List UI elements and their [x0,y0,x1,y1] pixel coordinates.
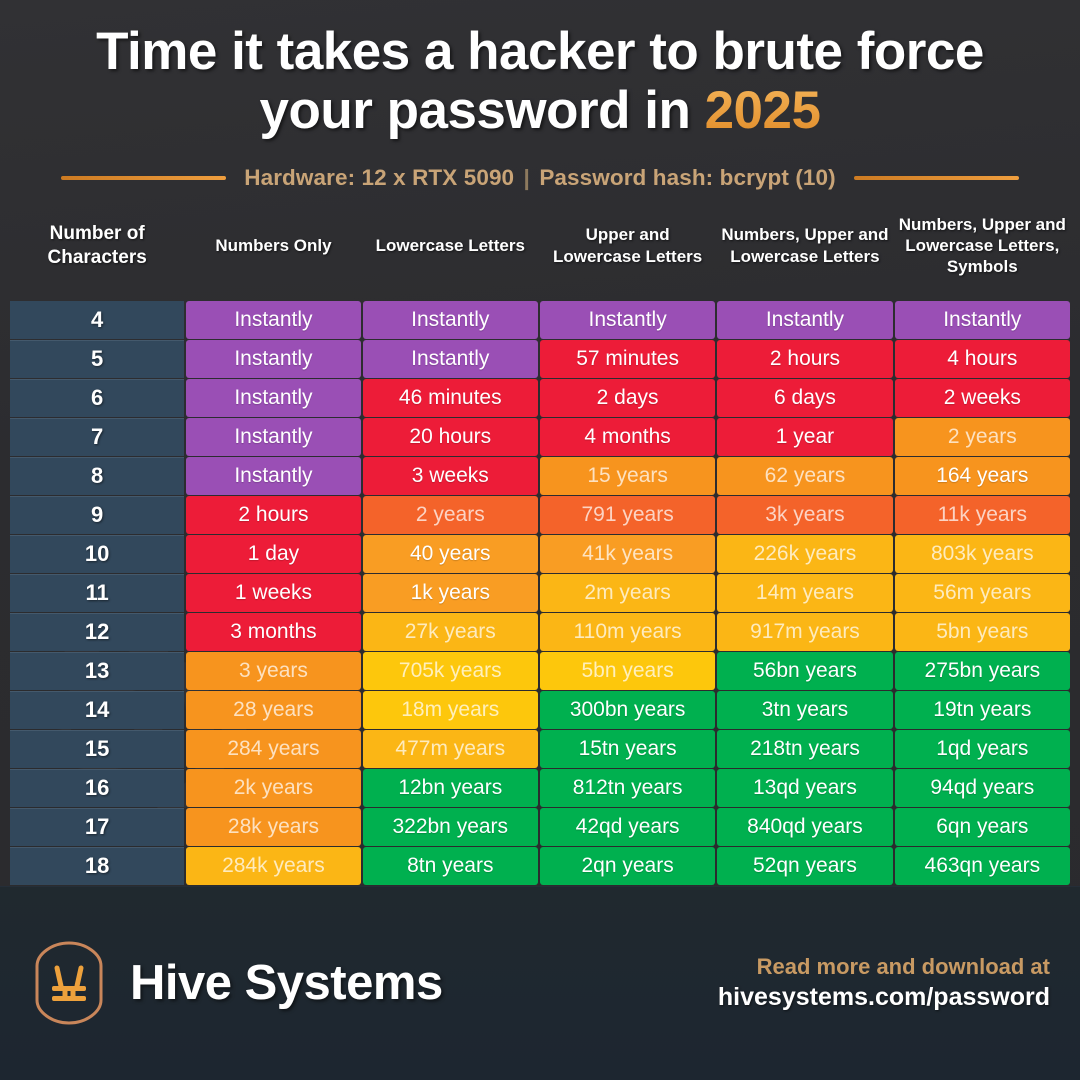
crack-time-cell: 11k years [895,496,1070,534]
column-header-numbers-upper-and-lowercase-letters: Numbers, Upper and Lowercase Letters [717,192,892,300]
table-row: 8Instantly3 weeks15 years62 years164 yea… [10,457,1070,495]
row-header-character-count: 14 [10,691,184,729]
table-row: 18284k years8tn years2qn years52qn years… [10,847,1070,885]
crack-time-cell: 5bn years [540,652,715,690]
rule-right-divider [854,176,1019,180]
crack-time-cell: 28k years [186,808,360,846]
crack-time-cell: 4 months [540,418,715,456]
crack-time-cell: Instantly [186,418,360,456]
crack-time-cell: 164 years [895,457,1070,495]
password-crack-time-table: Number of Characters Numbers Only Lowerc… [8,191,1072,886]
crack-time-cell: 840qd years [717,808,892,846]
crack-time-cell: 477m years [363,730,538,768]
crack-time-cell: 94qd years [895,769,1070,807]
subtitle-row: Hardware: 12 x RTX 5090 | Password hash:… [22,165,1058,191]
row-header-character-count: 11 [10,574,184,612]
brand-name: Hive Systems [130,955,443,1011]
crack-time-cell: Instantly [186,379,360,417]
row-header-character-count: 18 [10,847,184,885]
crack-time-cell: 8tn years [363,847,538,885]
table-body: 4InstantlyInstantlyInstantlyInstantlyIns… [10,301,1070,885]
crack-time-cell: 322bn years [363,808,538,846]
crack-time-cell: 6 days [717,379,892,417]
crack-time-cell: 2 years [895,418,1070,456]
crack-time-cell: Instantly [540,301,715,339]
crack-time-cell: 226k years [717,535,892,573]
table-row: 92 hours2 years791 years3k years11k year… [10,496,1070,534]
crack-time-cell: 1qd years [895,730,1070,768]
crack-time-cell: 57 minutes [540,340,715,378]
table-row: 7Instantly20 hours4 months1 year2 years [10,418,1070,456]
subtitle-hash: Password hash: bcrypt (10) [539,165,835,190]
row-header-character-count: 15 [10,730,184,768]
crack-time-cell: 2 weeks [895,379,1070,417]
crack-time-cell: 3k years [717,496,892,534]
row-header-character-count: 5 [10,340,184,378]
crack-time-cell: 1 day [186,535,360,573]
crack-time-cell: 20 hours [363,418,538,456]
crack-time-cell: 62 years [717,457,892,495]
crack-time-cell: 300bn years [540,691,715,729]
crack-time-cell: Instantly [363,340,538,378]
crack-time-cell: 917m years [717,613,892,651]
table-row: 5InstantlyInstantly57 minutes2 hours4 ho… [10,340,1070,378]
table-row: 133 years705k years5bn years56bn years27… [10,652,1070,690]
subtitle-hardware: Hardware: 12 x RTX 5090 [244,165,514,190]
cta-block: Read more and download at hivesystems.co… [718,953,1050,1013]
table-header-row: Number of Characters Numbers Only Lowerc… [10,192,1070,300]
crack-time-cell: Instantly [363,301,538,339]
row-header-character-count: 7 [10,418,184,456]
crack-time-cell: 42qd years [540,808,715,846]
crack-time-cell: 2k years [186,769,360,807]
crack-time-cell: 1k years [363,574,538,612]
row-header-character-count: 16 [10,769,184,807]
crack-time-cell: Instantly [186,301,360,339]
crack-time-cell: 14m years [717,574,892,612]
crack-time-cell: 463qn years [895,847,1070,885]
crack-time-cell: 2 hours [717,340,892,378]
crack-time-cell: 46 minutes [363,379,538,417]
crack-time-cell: Instantly [186,457,360,495]
crack-time-cell: 18m years [363,691,538,729]
crack-time-cell: Instantly [895,301,1070,339]
header: Time it takes a hacker to brute force yo… [0,0,1080,191]
crack-time-cell: 56bn years [717,652,892,690]
crack-time-cell: 705k years [363,652,538,690]
row-header-character-count: 10 [10,535,184,573]
table-row: 123 months27k years110m years917m years5… [10,613,1070,651]
crack-time-cell: 1 weeks [186,574,360,612]
row-header-character-count: 6 [10,379,184,417]
cta-line1: Read more and download at [718,953,1050,981]
table-row: 162k years12bn years812tn years13qd year… [10,769,1070,807]
page-title: Time it takes a hacker to brute force yo… [22,22,1058,141]
footer: Hive Systems Read more and download at h… [0,886,1080,1080]
infographic-page: Sy Time it takes a hacker to brute force… [0,0,1080,1080]
table-row: 15284 years477m years15tn years218tn yea… [10,730,1070,768]
crack-time-cell: 3 weeks [363,457,538,495]
title-main-text: Time it takes a hacker to brute force yo… [96,22,984,140]
table-row: 101 day40 years41k years226k years803k y… [10,535,1070,573]
table-row: 111 weeks1k years2m years14m years56m ye… [10,574,1070,612]
column-header-upper-and-lowercase-letters: Upper and Lowercase Letters [540,192,715,300]
crack-time-cell: 2 years [363,496,538,534]
crack-time-cell: 284 years [186,730,360,768]
crack-time-cell: 284k years [186,847,360,885]
brand-block: Hive Systems [30,940,443,1026]
crack-time-cell: 3 years [186,652,360,690]
subtitle-separator: | [521,165,533,190]
table-row: 1428 years18m years300bn years3tn years1… [10,691,1070,729]
crack-time-cell: 28 years [186,691,360,729]
crack-time-cell: 110m years [540,613,715,651]
column-header-numbers-upper-lowercase-letters-symbols: Numbers, Upper and Lowercase Letters, Sy… [895,192,1070,300]
row-header-character-count: 12 [10,613,184,651]
crack-time-cell: 803k years [895,535,1070,573]
crack-time-cell: 3 months [186,613,360,651]
crack-time-cell: 19tn years [895,691,1070,729]
column-header-lowercase-letters: Lowercase Letters [363,192,538,300]
row-header-character-count: 13 [10,652,184,690]
crack-time-cell: 218tn years [717,730,892,768]
row-header-character-count: 17 [10,808,184,846]
crack-time-cell: 52qn years [717,847,892,885]
crack-time-cell: 6qn years [895,808,1070,846]
crack-time-cell: 56m years [895,574,1070,612]
crack-time-cell: 2 hours [186,496,360,534]
crack-time-cell: 12bn years [363,769,538,807]
table-row: 6Instantly46 minutes2 days6 days2 weeks [10,379,1070,417]
rule-left-divider [61,176,226,180]
crack-time-cell: 812tn years [540,769,715,807]
crack-time-cell: Instantly [717,301,892,339]
title-year: 2025 [705,81,821,140]
crack-time-cell: 5bn years [895,613,1070,651]
crack-time-cell: 3tn years [717,691,892,729]
password-crack-time-table-wrapper: Number of Characters Numbers Only Lowerc… [0,191,1080,886]
table-header: Number of Characters Numbers Only Lowerc… [10,192,1070,300]
crack-time-cell: 2m years [540,574,715,612]
crack-time-cell: 13qd years [717,769,892,807]
cta-url[interactable]: hivesystems.com/password [718,981,1050,1013]
crack-time-cell: 2 days [540,379,715,417]
row-header-character-count: 4 [10,301,184,339]
table-row: 4InstantlyInstantlyInstantlyInstantlyIns… [10,301,1070,339]
crack-time-cell: 791 years [540,496,715,534]
crack-time-cell: 275bn years [895,652,1070,690]
crack-time-cell: 15 years [540,457,715,495]
crack-time-cell: 2qn years [540,847,715,885]
crack-time-cell: 27k years [363,613,538,651]
crack-time-cell: 15tn years [540,730,715,768]
column-header-number-of-characters: Number of Characters [10,192,184,300]
row-header-character-count: 9 [10,496,184,534]
crack-time-cell: 4 hours [895,340,1070,378]
table-row: 1728k years322bn years42qd years840qd ye… [10,808,1070,846]
crack-time-cell: 41k years [540,535,715,573]
crack-time-cell: 1 year [717,418,892,456]
hive-hexagon-logo-icon [30,940,108,1026]
subtitle: Hardware: 12 x RTX 5090 | Password hash:… [244,165,836,191]
row-header-character-count: 8 [10,457,184,495]
crack-time-cell: 40 years [363,535,538,573]
crack-time-cell: Instantly [186,340,360,378]
column-header-numbers-only: Numbers Only [186,192,360,300]
